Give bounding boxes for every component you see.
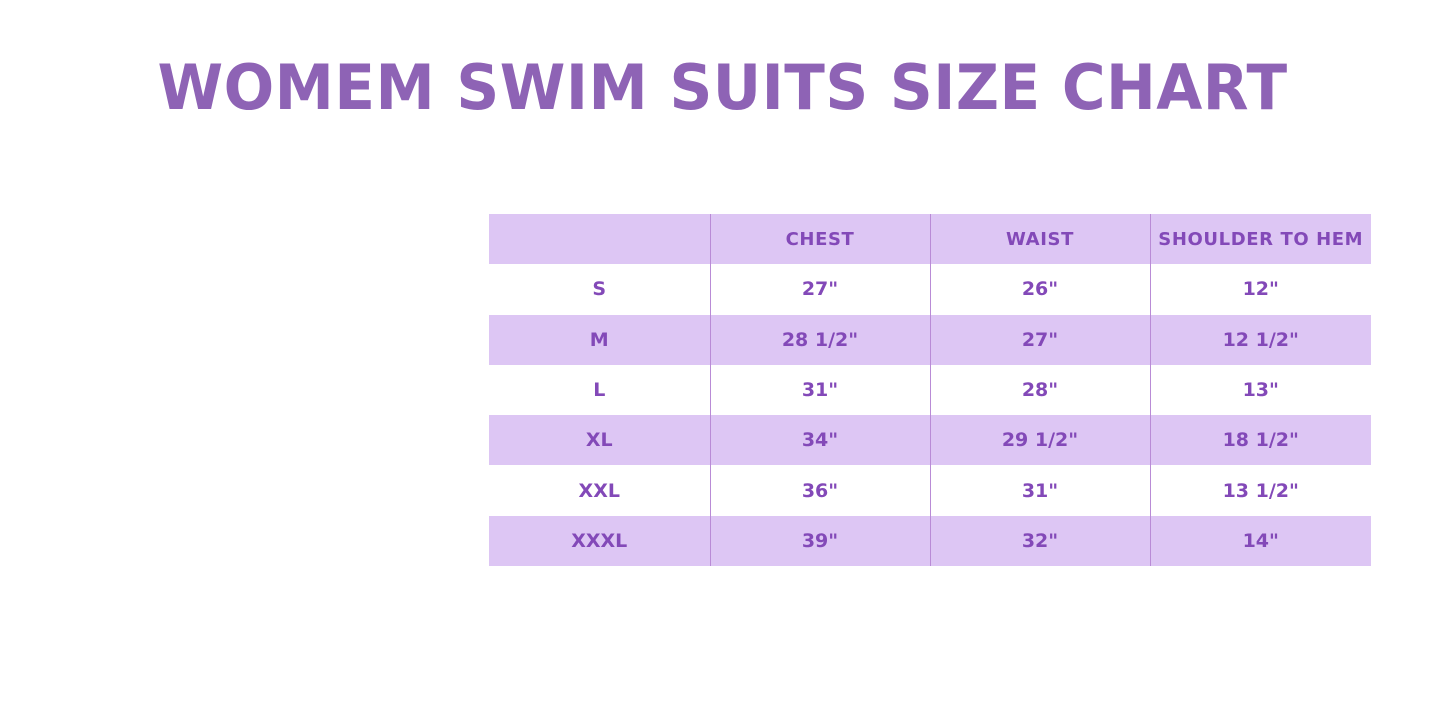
cell-waist: 31" xyxy=(930,465,1150,515)
column-header-shoulder-to-hem: SHOULDER TO HEM xyxy=(1150,214,1371,264)
table-row: XXXL 39" 32" 14" xyxy=(489,516,1371,566)
cell-waist: 28" xyxy=(930,365,1150,415)
cell-shoulder-to-hem: 13 1/2" xyxy=(1150,465,1371,515)
cell-chest: 36" xyxy=(710,465,930,515)
table-header: CHEST WAIST SHOULDER TO HEM xyxy=(489,214,1371,264)
cell-shoulder-to-hem: 18 1/2" xyxy=(1150,415,1371,465)
page-title: WOMEM SWIM SUITS SIZE CHART xyxy=(29,52,1416,124)
size-chart-table: CHEST WAIST SHOULDER TO HEM S 27" 26" 12… xyxy=(489,214,1371,566)
table-row: M 28 1/2" 27" 12 1/2" xyxy=(489,315,1371,365)
column-header-chest: CHEST xyxy=(710,214,930,264)
cell-chest: 34" xyxy=(710,415,930,465)
cell-chest: 28 1/2" xyxy=(710,315,930,365)
cell-shoulder-to-hem: 12" xyxy=(1150,264,1371,314)
cell-size: XXXL xyxy=(489,516,710,566)
cell-chest: 31" xyxy=(710,365,930,415)
cell-size: M xyxy=(489,315,710,365)
table-row: S 27" 26" 12" xyxy=(489,264,1371,314)
cell-shoulder-to-hem: 13" xyxy=(1150,365,1371,415)
cell-size: XL xyxy=(489,415,710,465)
cell-size: S xyxy=(489,264,710,314)
table-header-row: CHEST WAIST SHOULDER TO HEM xyxy=(489,214,1371,264)
cell-waist: 26" xyxy=(930,264,1150,314)
cell-size: L xyxy=(489,365,710,415)
column-header-size xyxy=(489,214,710,264)
size-chart-page: WOMEM SWIM SUITS SIZE CHART CHEST WAIST … xyxy=(0,0,1445,723)
cell-waist: 27" xyxy=(930,315,1150,365)
size-chart-table-container: CHEST WAIST SHOULDER TO HEM S 27" 26" 12… xyxy=(489,214,1371,566)
cell-shoulder-to-hem: 12 1/2" xyxy=(1150,315,1371,365)
table-row: XL 34" 29 1/2" 18 1/2" xyxy=(489,415,1371,465)
cell-waist: 29 1/2" xyxy=(930,415,1150,465)
table-row: L 31" 28" 13" xyxy=(489,365,1371,415)
table-row: XXL 36" 31" 13 1/2" xyxy=(489,465,1371,515)
cell-waist: 32" xyxy=(930,516,1150,566)
column-header-waist: WAIST xyxy=(930,214,1150,264)
cell-shoulder-to-hem: 14" xyxy=(1150,516,1371,566)
cell-chest: 39" xyxy=(710,516,930,566)
table-body: S 27" 26" 12" M 28 1/2" 27" 12 1/2" L 31… xyxy=(489,264,1371,566)
cell-size: XXL xyxy=(489,465,710,515)
cell-chest: 27" xyxy=(710,264,930,314)
